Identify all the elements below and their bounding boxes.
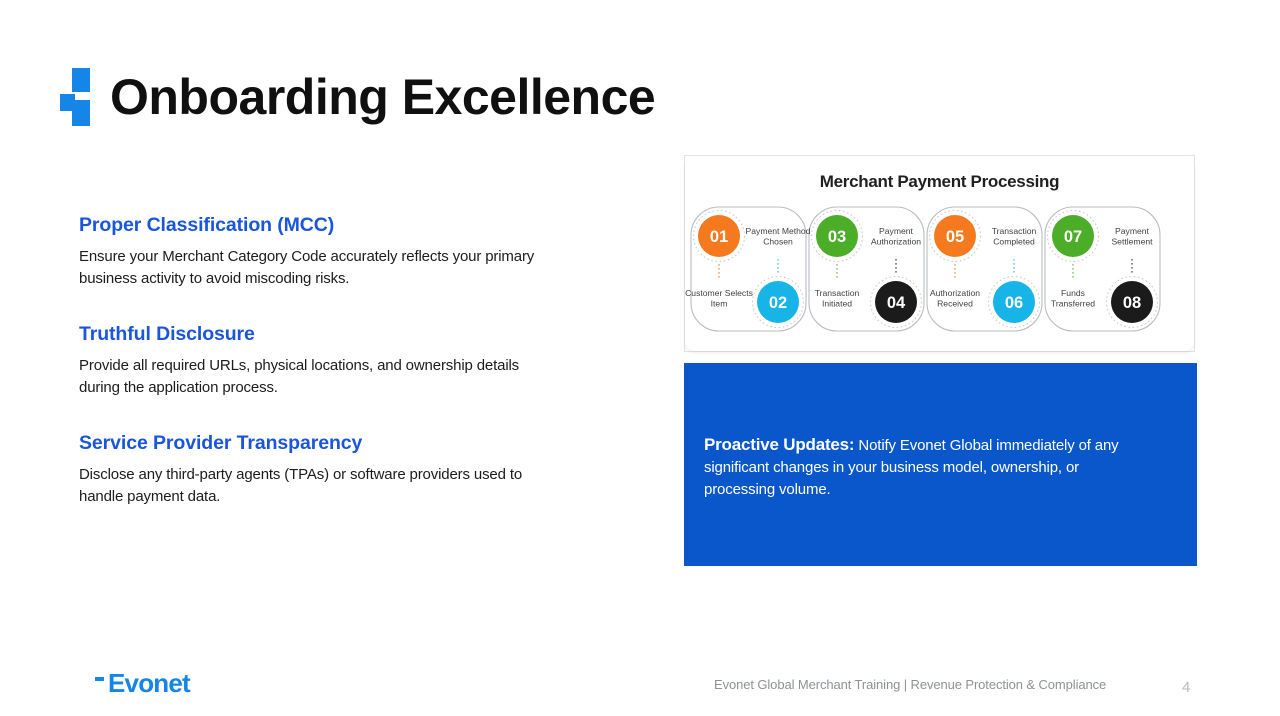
step-label: TransactionInitiated bbox=[815, 288, 860, 309]
step-label: Payment MethodChosen bbox=[746, 226, 811, 247]
step-number: 01 bbox=[710, 228, 728, 246]
list-item: Proper Classification (MCC) Ensure your … bbox=[79, 214, 599, 290]
slide-header: Onboarding Excellence bbox=[60, 68, 655, 126]
proactive-updates-callout: Proactive Updates: Notify Evonet Global … bbox=[684, 363, 1197, 566]
step-number: 04 bbox=[887, 294, 906, 312]
step-number: 05 bbox=[946, 228, 964, 246]
step-number: 07 bbox=[1064, 228, 1082, 246]
step-number: 06 bbox=[1005, 294, 1023, 312]
page-title: Onboarding Excellence bbox=[110, 72, 655, 122]
step-number: 03 bbox=[828, 228, 846, 246]
callout-lead: Proactive Updates: bbox=[704, 435, 854, 454]
step-label: AuthorizationReceived bbox=[930, 288, 980, 309]
evonet-tick-icon bbox=[95, 677, 104, 681]
footer-logo-text: Evonet bbox=[108, 670, 190, 696]
step-label: PaymentAuthorization bbox=[871, 226, 921, 247]
key-points-list: Proper Classification (MCC) Ensure your … bbox=[79, 214, 599, 508]
section-heading-transparency: Service Provider Transparency bbox=[79, 432, 599, 455]
step-label: TransactionCompleted bbox=[992, 226, 1037, 247]
step-number: 08 bbox=[1123, 294, 1141, 312]
step-label: Customer SelectsItem bbox=[685, 288, 753, 309]
step-label: FundsTransferred bbox=[1051, 288, 1095, 309]
step-number: 02 bbox=[769, 294, 787, 312]
list-item: Truthful Disclosure Provide all required… bbox=[79, 323, 599, 399]
payment-flow-diagram: Merchant Payment Processing 01Customer S… bbox=[685, 156, 1194, 351]
step-label: PaymentSettlement bbox=[1111, 226, 1153, 247]
footer-note: Evonet Global Merchant Training | Revenu… bbox=[714, 677, 1106, 692]
section-heading-mcc: Proper Classification (MCC) bbox=[79, 214, 599, 237]
section-body-disclosure: Provide all required URLs, physical loca… bbox=[79, 355, 549, 399]
callout-text: Proactive Updates: Notify Evonet Global … bbox=[704, 432, 1153, 502]
section-heading-disclosure: Truthful Disclosure bbox=[79, 323, 599, 346]
page-number: 4 bbox=[1182, 679, 1190, 696]
footer-logo: Evonet bbox=[95, 670, 190, 696]
diagram-flow-canvas: 01Customer SelectsItem02Payment MethodCh… bbox=[685, 206, 1194, 336]
evonet-brand-mark-icon bbox=[60, 68, 90, 126]
list-item: Service Provider Transparency Disclose a… bbox=[79, 432, 599, 508]
diagram-title: Merchant Payment Processing bbox=[685, 172, 1194, 192]
section-body-mcc: Ensure your Merchant Category Code accur… bbox=[79, 246, 549, 290]
section-body-transparency: Disclose any third-party agents (TPAs) o… bbox=[79, 464, 549, 508]
diagram-frame: Merchant Payment Processing 01Customer S… bbox=[684, 155, 1195, 352]
